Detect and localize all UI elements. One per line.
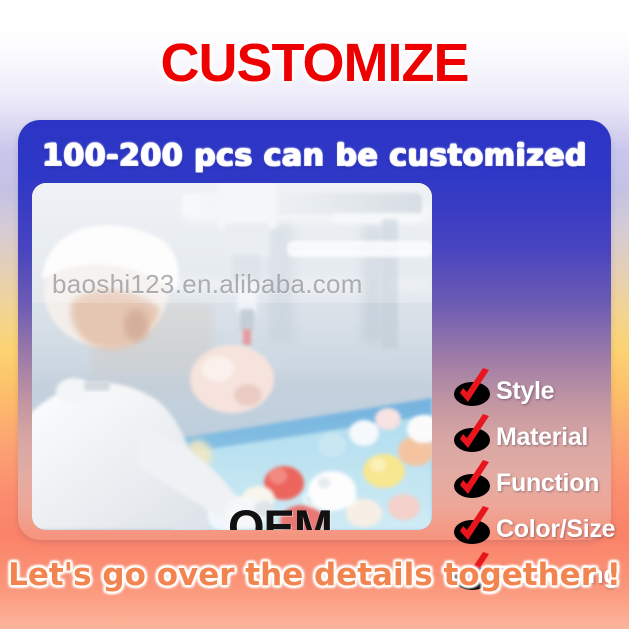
product-photo: baoshi123.en.alibaba.com OEM ODM: [32, 183, 432, 530]
black-ellipse-red-check-icon: [454, 424, 488, 450]
list-item-label: Color/Size: [496, 515, 615, 544]
factory-photo-illustration: [32, 183, 432, 530]
list-item: Function: [454, 460, 629, 506]
black-ellipse-red-check-icon: [454, 470, 488, 496]
footer-cta-text: Let's go over the details together !: [0, 557, 629, 593]
customize-banner: CUSTOMIZE 100-200 pcs can be customized: [0, 0, 629, 629]
panel-heading: 100-200 pcs can be customized: [18, 138, 611, 173]
list-item: Material: [454, 414, 629, 460]
list-item-label: Style: [496, 377, 554, 406]
oem-label: OEM: [228, 503, 332, 530]
black-ellipse-red-check-icon: [454, 378, 488, 404]
list-item: Style: [454, 368, 629, 414]
list-item: Color/Size: [454, 506, 629, 552]
page-title: CUSTOMIZE: [0, 34, 629, 92]
list-item-label: Function: [496, 469, 599, 498]
black-ellipse-red-check-icon: [454, 516, 488, 542]
customize-panel: 100-200 pcs can be customized: [18, 120, 611, 540]
list-item-label: Material: [496, 423, 588, 452]
